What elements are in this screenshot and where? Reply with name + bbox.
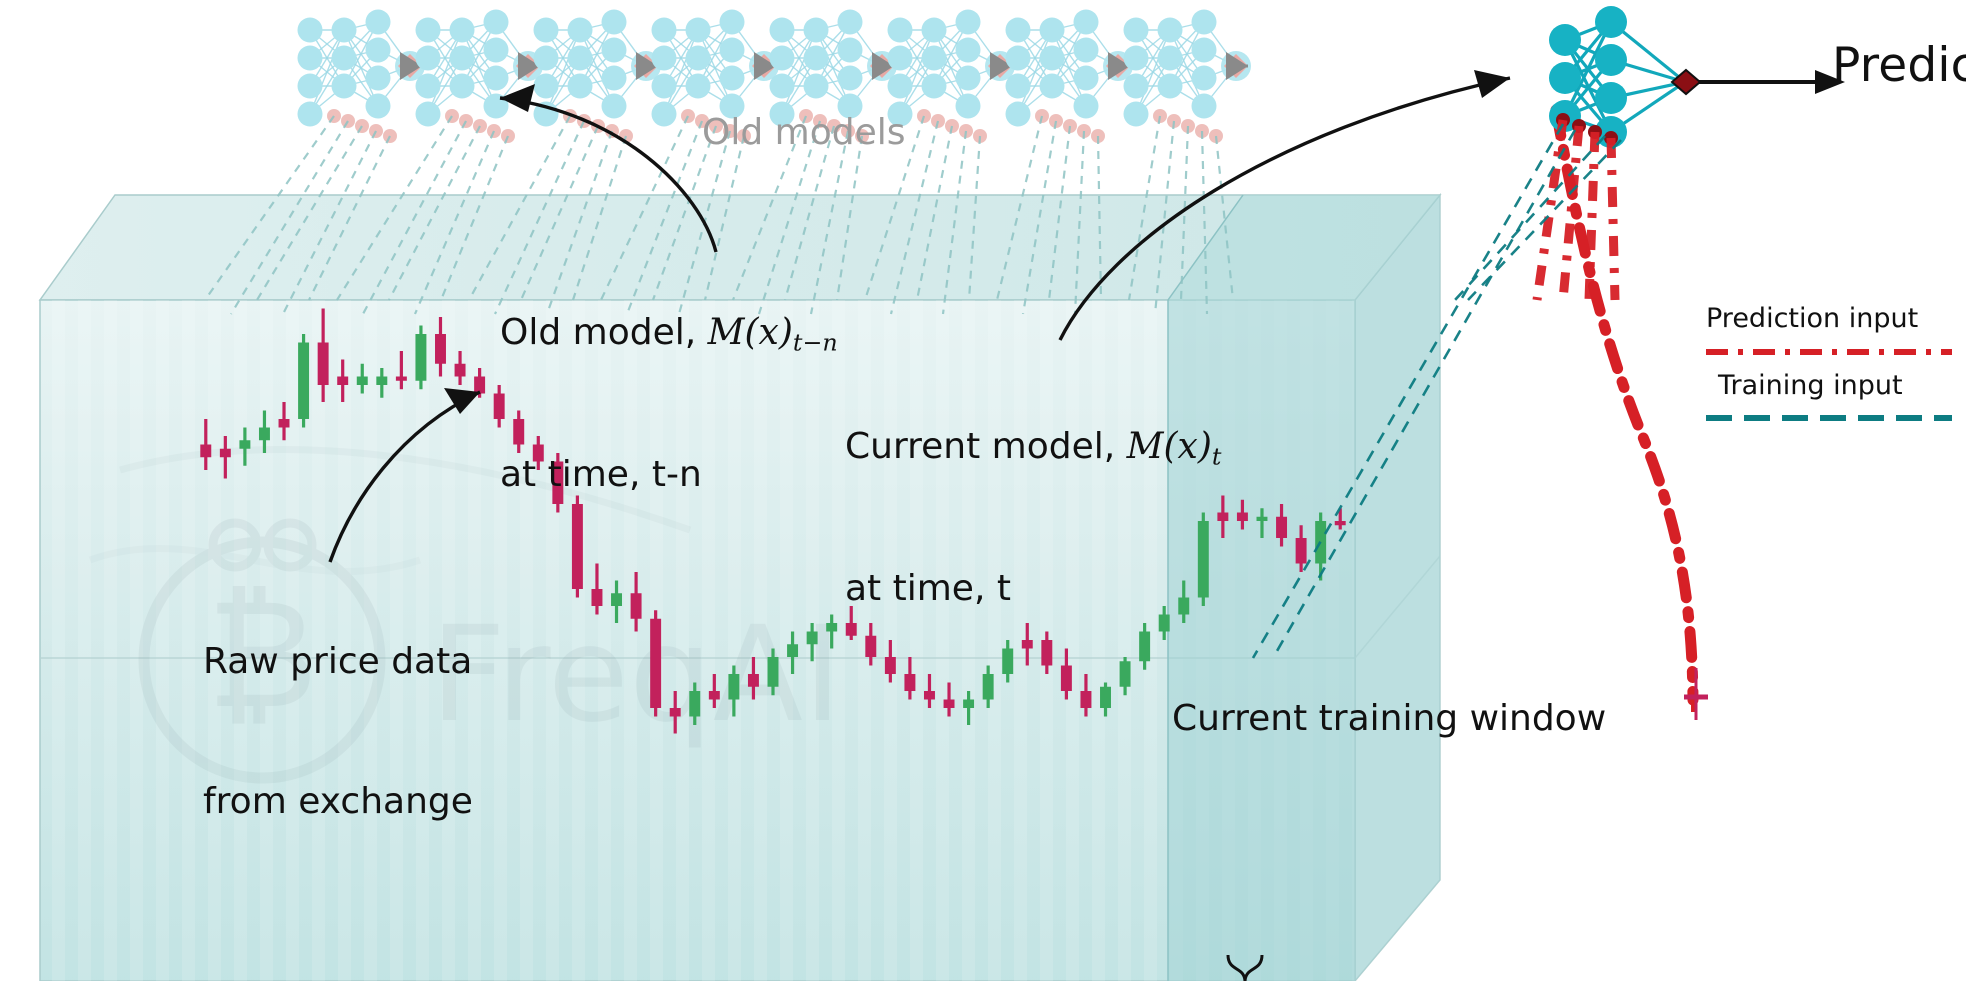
current-model-math-x: (x) — [1164, 426, 1212, 467]
current-model[interactable] — [1549, 6, 1685, 148]
current-model-math-subscript: t — [1212, 442, 1222, 470]
old-model-8[interactable] — [1124, 10, 1252, 144]
old-model-2[interactable] — [416, 10, 544, 144]
current-model-prefix: Current model, — [845, 426, 1127, 467]
old-model-math-m: M — [708, 312, 745, 353]
legend-label-training-input: Training input — [1718, 370, 1903, 401]
old-model-time-line: at time, t-n — [500, 452, 838, 499]
figure-canvas: ₿ FreqAI — [0, 0, 1966, 981]
old-model-annotation: Old model, M(x)t−n at time, t-n — [500, 216, 838, 592]
training-window-brace — [1228, 955, 1262, 981]
current-training-window-label: Current training window — [1172, 698, 1606, 739]
old-model-7[interactable] — [1006, 10, 1134, 144]
old-model-6[interactable] — [888, 10, 1016, 144]
current-model-time-line: at time, t — [845, 566, 1221, 613]
old-model-prefix: Old model, — [500, 312, 708, 353]
legend-label-prediction-input: Prediction input — [1706, 303, 1918, 334]
annotation-arrow-raw-price — [330, 388, 480, 562]
old-models-label: Old models — [702, 112, 905, 153]
prediction-input-fan — [1253, 113, 1621, 658]
old-model-math-subscript: t−n — [793, 328, 838, 356]
prediction-output-arrow — [1672, 70, 1845, 94]
current-model-math-m: M — [1127, 426, 1164, 467]
raw-price-line-2: from exchange — [203, 779, 473, 826]
old-model-math-x: (x) — [745, 312, 793, 353]
old-model-1[interactable] — [298, 10, 426, 144]
raw-price-line-1: Raw price data — [203, 639, 473, 686]
prediction-label: Prediction — [1832, 38, 1966, 93]
raw-price-annotation: Raw price data from exchange — [203, 545, 473, 919]
current-model-network[interactable] — [1549, 6, 1685, 148]
old-model-3[interactable] — [534, 10, 662, 144]
current-model-annotation: Current model, M(x)t at time, t — [845, 330, 1221, 706]
